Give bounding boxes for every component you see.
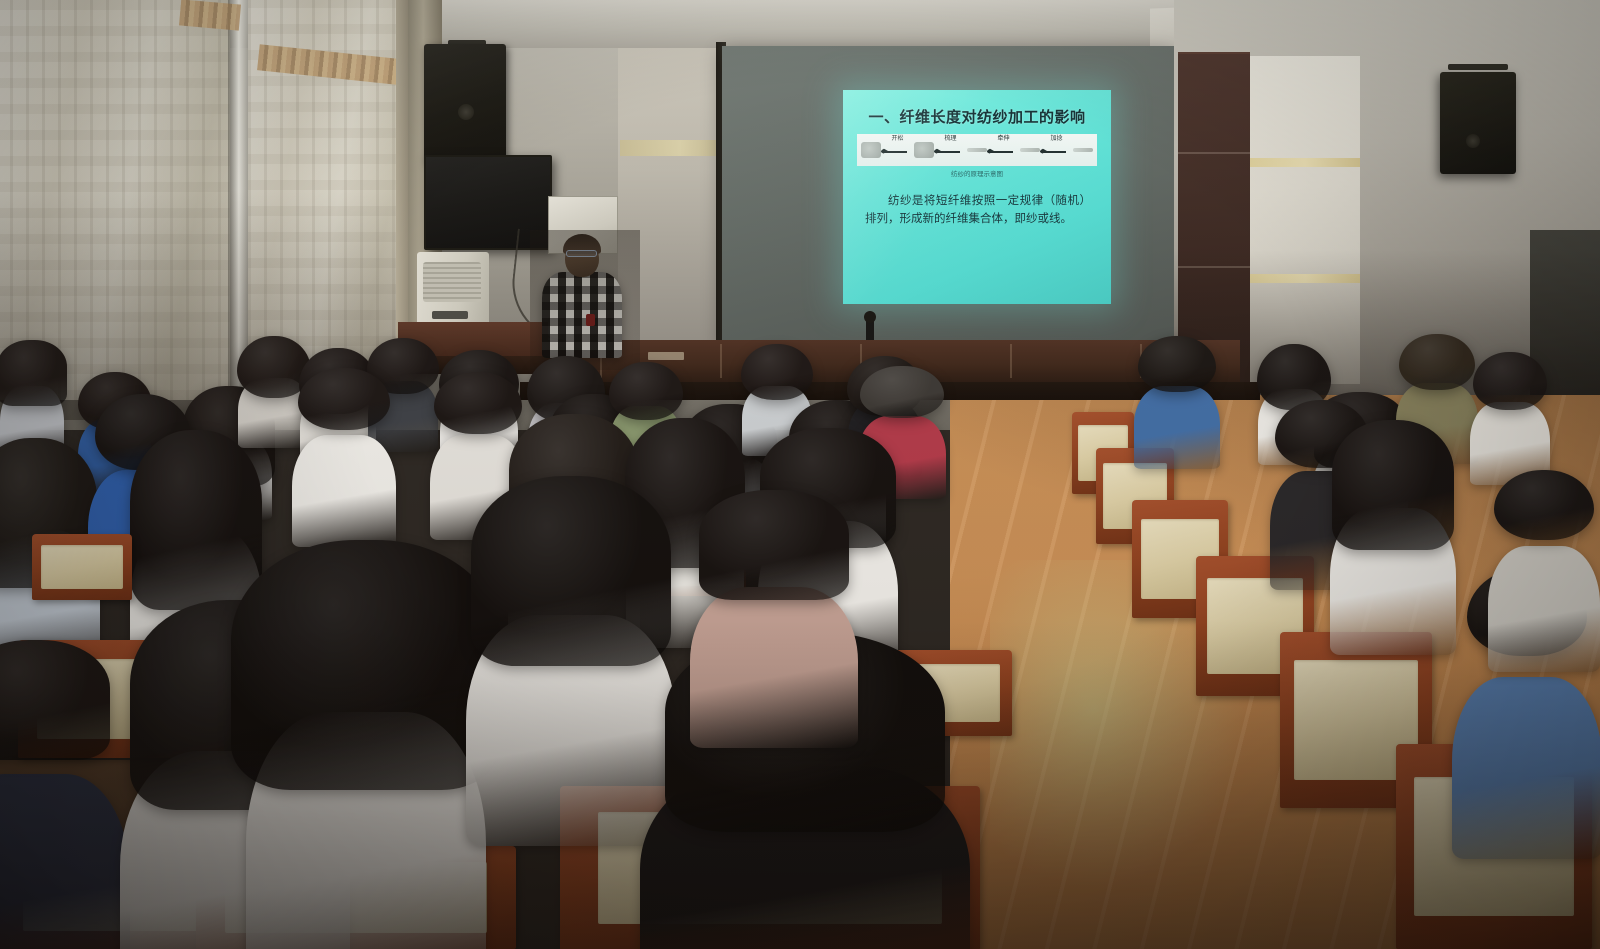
audience-member [690,490,858,720]
audience-member [1330,420,1456,630]
lecture-hall-photo: 一、纤维长度对纺纱加工的影响 开松 梳理 牵伸 加捻 [0,0,1600,949]
audience-member-long-hair [231,540,501,790]
diagram-label-3: 牵伸 [997,133,1009,142]
loudspeaker-icon-left [424,44,506,162]
nameplate [648,352,684,360]
audience-member-long-hair [0,640,110,760]
lecture-hall-seat [32,534,132,600]
diagram-label-4: 加捻 [1050,133,1062,142]
audience-member-head [1473,352,1547,410]
arrow-head-icon [934,147,967,155]
audience-member-torso [1134,386,1220,469]
audience-member-long-hair [0,340,67,406]
audience-member [246,540,486,949]
audience-member-head [609,362,683,420]
audience-member-head [741,344,813,400]
audience-member-long-hair [699,490,849,600]
diagram-node-sliver [967,148,987,152]
audience-member-head [1494,470,1594,540]
air-conditioner-grille-icon [423,262,481,302]
panel-seam [720,344,722,378]
slide-body-text: 纺纱是将短纤维按照一定规律（随机）排列，形成新的纤维集合体，即纱或线。 [865,192,1091,228]
audience-member-torso [1452,677,1600,859]
slide-figure-caption: 纺纱的原理示意图 [843,168,1111,178]
diagram-arrow-3: 牵伸 [987,144,1020,156]
audience-member-head [1399,334,1475,390]
audience-member-torso [1488,546,1600,672]
diagram-node-roving [1020,148,1040,152]
slide-process-diagram: 开松 梳理 牵伸 加捻 [857,134,1097,166]
microphone-icon [866,316,874,340]
diagram-node-yarn [1073,148,1093,152]
audience-member [0,640,130,949]
eyeglasses-icon [566,250,597,257]
air-conditioner-badge [432,311,468,319]
audience-member-long-hair [130,430,262,610]
diagram-arrow-4: 加捻 [1040,144,1073,156]
audience-member-torso [292,435,396,547]
seat-back-cushion [41,545,123,590]
marble-stripe-upper [1250,158,1360,167]
diagram-arrow-1: 开松 [881,144,914,156]
diagram-node-fiber [861,142,881,158]
diagram-arrow-2: 梳理 [934,144,967,156]
panel-seam [1010,344,1012,378]
speaker-bracket-right [1448,64,1508,70]
arrow-head-icon [987,147,1020,155]
audience-member-head [1138,336,1216,392]
audience-member-torso [0,774,130,949]
audience-member [1470,352,1550,470]
audience-member-torso [690,587,858,748]
loudspeaker-icon-right [1440,72,1516,174]
audience-member-head [298,368,390,430]
audience-member [1134,336,1220,454]
audience-member [1488,470,1600,650]
audience-member-head [860,366,944,418]
lecturer-torso [542,272,622,358]
arrow-head-icon [1040,147,1073,155]
diagram-label-1: 开松 [891,133,903,142]
audience-member [292,368,396,528]
presentation-slide: 一、纤维长度对纺纱加工的影响 开松 梳理 牵伸 加捻 [843,90,1111,304]
audience-member [0,340,64,450]
audience-member-long-hair [1332,420,1454,550]
diagram-node-tuft [914,142,934,158]
arrow-head-icon [881,147,914,155]
slide-title: 一、纤维长度对纺纱加工的影响 [843,106,1111,127]
presentation-clicker-icon [586,314,595,326]
diagram-label-2: 梳理 [944,133,956,142]
